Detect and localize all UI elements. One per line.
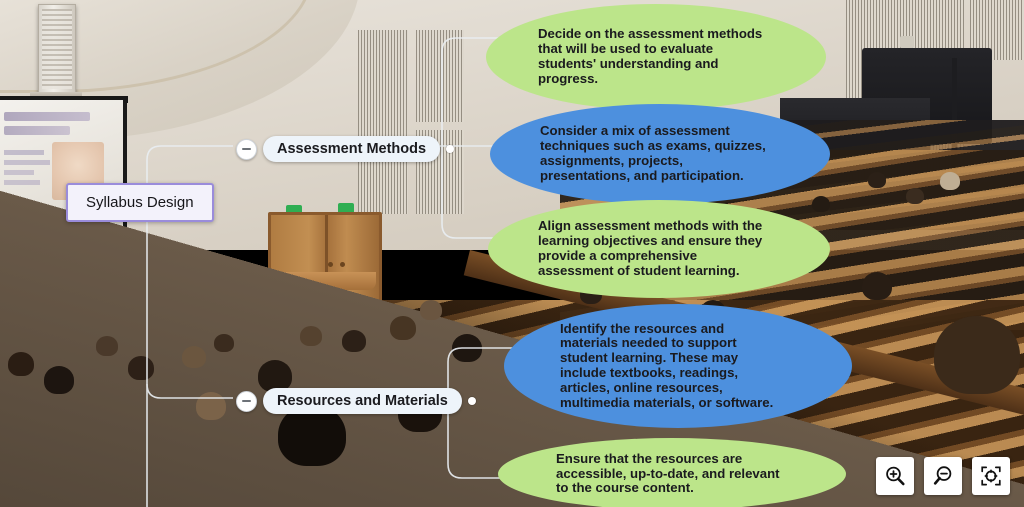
bubble-text: Identify the resources and materials nee… [560,322,773,411]
bubble-text: Align assessment methods with the learni… [538,219,762,278]
branch-node-assessment-methods[interactable]: Assessment Methods [236,136,454,162]
zoom-in-icon [883,464,907,488]
bubble-resources-1[interactable]: Identify the resources and materials nee… [504,304,852,428]
fit-screen-icon [979,464,1003,488]
minus-circle-icon[interactable] [236,391,257,412]
root-node-syllabus-design[interactable]: Syllabus Design [66,183,214,222]
zoom-out-button[interactable] [924,457,962,495]
mindmap-canvas[interactable]: Decide on the assessment methods that wi… [0,0,1024,507]
zoom-in-button[interactable] [876,457,914,495]
zoom-out-icon [931,464,955,488]
branch-port-dot[interactable] [446,145,454,153]
bubble-assessment-3[interactable]: Align assessment methods with the learni… [488,200,830,298]
bubble-text: Consider a mix of assessment techniques … [540,124,766,183]
fit-to-screen-button[interactable] [972,457,1010,495]
minus-circle-icon[interactable] [236,139,257,160]
bubble-assessment-2[interactable]: Consider a mix of assessment techniques … [490,104,830,204]
branch-node-label[interactable]: Assessment Methods [263,136,440,162]
root-node-label: Syllabus Design [86,194,194,211]
bubble-resources-2[interactable]: Ensure that the resources are accessible… [498,438,846,507]
branch-node-resources-and-materials[interactable]: Resources and Materials [236,388,476,414]
zoom-toolbar[interactable] [876,457,1010,495]
branch-port-dot[interactable] [468,397,476,405]
bubble-assessment-1[interactable]: Decide on the assessment methods that wi… [486,4,826,110]
branch-node-label[interactable]: Resources and Materials [263,388,462,414]
bubble-text: Ensure that the resources are accessible… [556,452,780,496]
bubble-text: Decide on the assessment methods that wi… [538,27,762,86]
